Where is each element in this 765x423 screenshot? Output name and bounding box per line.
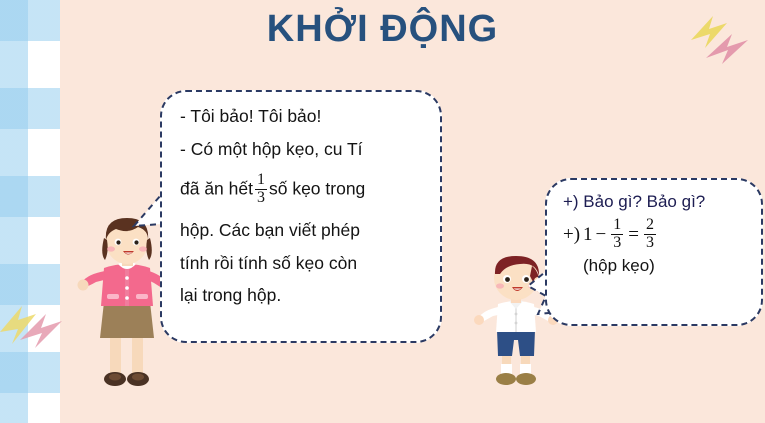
fraction-denominator: 3 [255,189,267,206]
equation-equals: = [628,224,639,246]
equation-left-fraction: 1 3 [611,217,623,251]
equation-right-fraction: 2 3 [644,217,656,251]
bubble-line-4: hộp. Các bạn viết phép [180,222,424,240]
fraction-numerator: 1 [255,172,267,188]
bubble-line-3: đã ăn hết13số kẹo trong [180,173,424,207]
equation-minus: − [596,224,607,246]
bubble-line-5: tính rồi tính số kẹo còn [180,255,424,273]
gingham-border-left [0,0,60,423]
fraction-one-third: 13 [255,172,267,206]
student-equation: +) 1 − 1 3 = 2 3 [563,218,751,252]
bubble-line-3b: số kẹo trong [269,179,365,199]
left-fraction-numerator: 1 [611,217,623,233]
bubble-line-6: lại trong hộp. [180,287,424,305]
teacher-speech-bubble: - Tôi bảo! Tôi bảo! - Có một hộp kẹo, cu… [160,90,442,343]
right-fraction-denominator: 3 [644,234,656,251]
equation-prefix: +) [563,224,580,246]
slide-canvas: KHỞI ĐỘNG [0,0,765,423]
bubble-line-3a: đã ăn hết [180,179,253,199]
right-fraction-numerator: 2 [644,217,656,233]
equation-whole: 1 [583,224,593,246]
student-question: +) Bảo gì? Bảo gì? [563,192,751,212]
student-unit-label: (hộp kẹo) [583,256,751,276]
bubble-line-1: - Tôi bảo! Tôi bảo! [180,108,424,126]
student-speech-bubble: +) Bảo gì? Bảo gì? +) 1 − 1 3 = 2 3 (hộp… [545,178,763,326]
left-fraction-denominator: 3 [611,234,623,251]
slide-title: KHỞI ĐỘNG [0,8,765,52]
bubble-line-2: - Có một hộp kẹo, cu Tí [180,141,424,159]
